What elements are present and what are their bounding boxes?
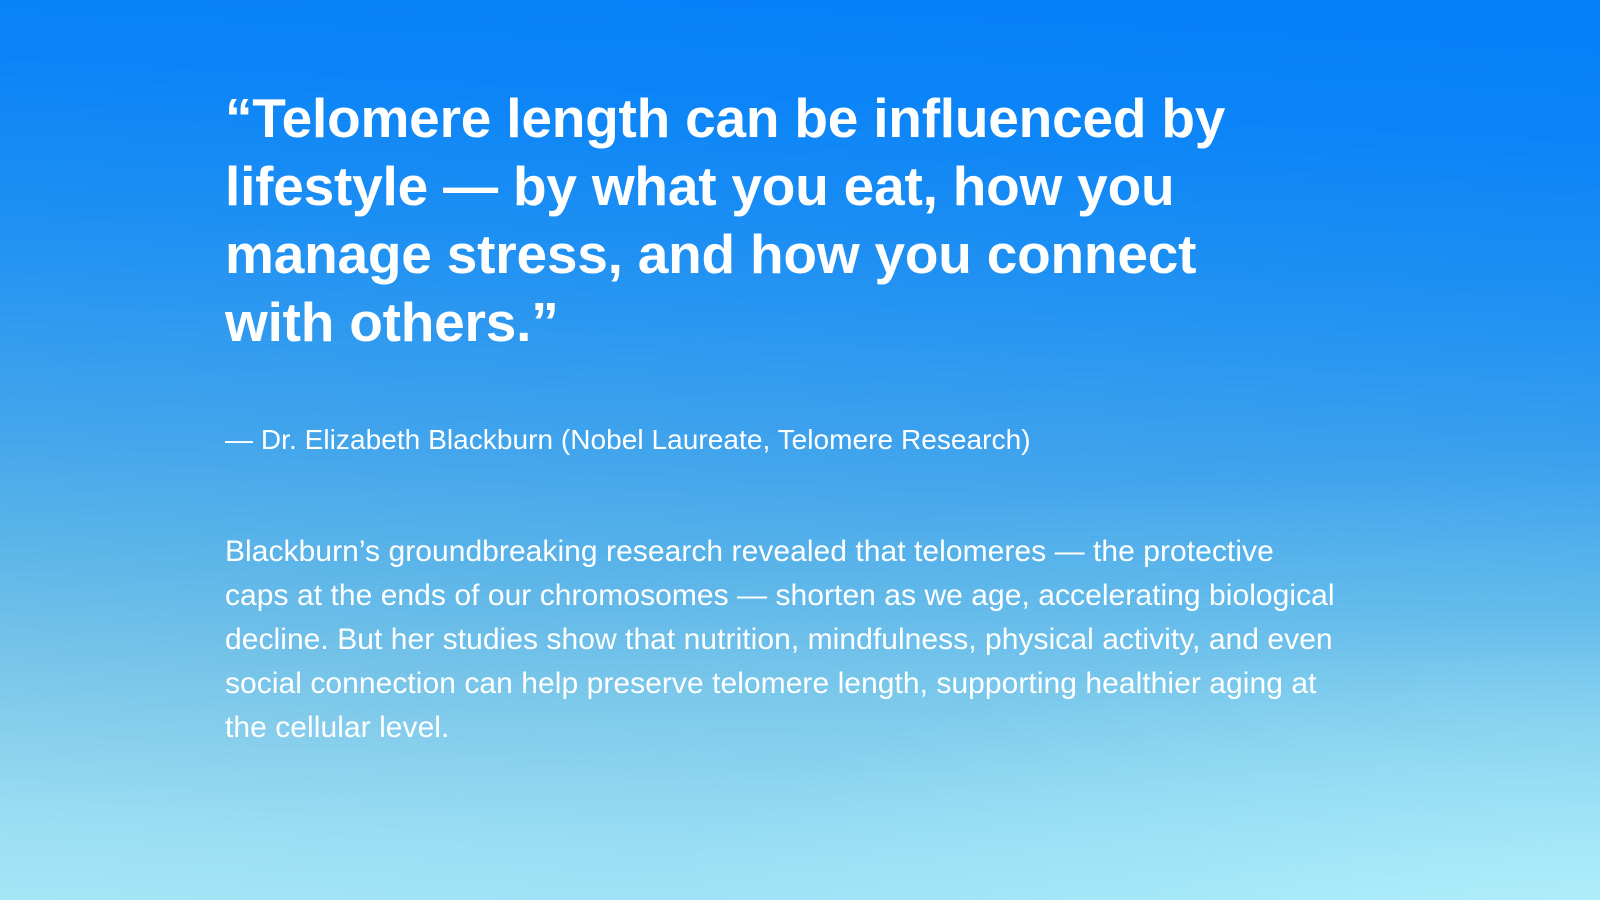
slide-content: “Telomere length can be influenced by li…: [225, 0, 1385, 750]
quote-attribution: — Dr. Elizabeth Blackburn (Nobel Laureat…: [225, 356, 1385, 458]
quote-slide: “Telomere length can be influenced by li…: [0, 0, 1600, 900]
quote-heading: “Telomere length can be influenced by li…: [225, 0, 1310, 356]
body-paragraph: Blackburn’s groundbreaking research reve…: [225, 458, 1335, 750]
